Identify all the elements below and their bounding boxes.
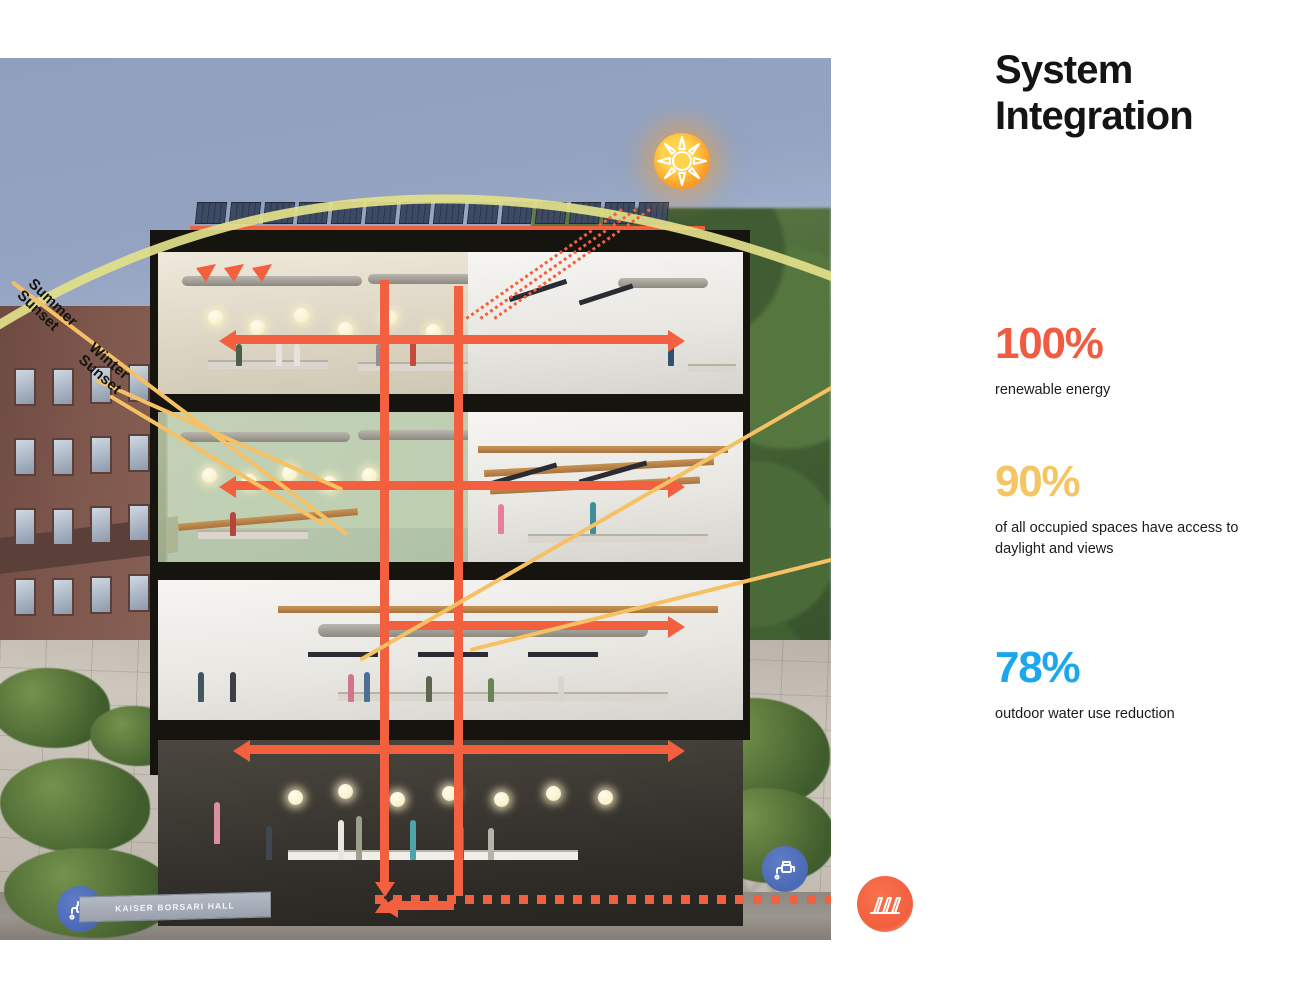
floor-2-supply-arrow — [236, 481, 668, 490]
stat-description: renewable energy — [995, 380, 1275, 401]
floor-2-arrow-head-left — [219, 476, 236, 498]
stat-value: 100% — [995, 322, 1275, 366]
stat-daylight-access: 90% of all occupied spaces have access t… — [995, 460, 1275, 560]
faucet-icon — [772, 856, 798, 882]
ground-arrow-head-left — [233, 740, 250, 762]
ground-supply-arrow — [250, 745, 668, 754]
building-name-plaque: KAISER BORSARI HALL — [79, 891, 271, 922]
stat-description: outdoor water use reduction — [995, 704, 1275, 725]
floor-1-arrow-head-right — [668, 616, 685, 638]
solar-ray-arrowheads — [170, 238, 310, 298]
floor-3-supply-arrow — [236, 335, 668, 344]
vertical-riser-arrow — [380, 280, 389, 888]
stat-value: 90% — [995, 460, 1275, 504]
sun-icon — [654, 133, 710, 189]
floor-3-right-room — [468, 252, 743, 394]
secondary-riser-arrow — [454, 286, 463, 896]
stat-value: 78% — [995, 646, 1275, 690]
ground-arrow-head-right — [668, 740, 685, 762]
floor-3-arrow-head-right — [668, 330, 685, 352]
water-badge-right — [762, 846, 808, 892]
floor-3-arrow-head-left — [219, 330, 236, 352]
ground-loop-dashed-line — [375, 895, 831, 904]
solar-badge — [857, 876, 913, 932]
stat-description: of all occupied spaces have access to da… — [995, 518, 1275, 560]
rooftop-pv-array — [196, 202, 696, 228]
building-name-label: KAISER BORSARI HALL — [115, 900, 235, 913]
building-section-diagram: Summer Sunset Winter Sunset Summer Sunri… — [0, 58, 831, 940]
page-title: System Integration — [995, 48, 1294, 139]
content-column: System Integration 100% renewable energy… — [995, 0, 1294, 1000]
solar-panel-icon — [868, 889, 902, 919]
floor-slab-2 — [150, 562, 750, 580]
stat-water-reduction: 78% outdoor water use reduction — [995, 646, 1275, 725]
floor-slab-3 — [150, 394, 750, 412]
infographic-page: Summer Sunset Winter Sunset Summer Sunri… — [0, 0, 1294, 1000]
stat-renewable-energy: 100% renewable energy — [995, 322, 1275, 401]
floor-slab-1 — [150, 720, 750, 740]
